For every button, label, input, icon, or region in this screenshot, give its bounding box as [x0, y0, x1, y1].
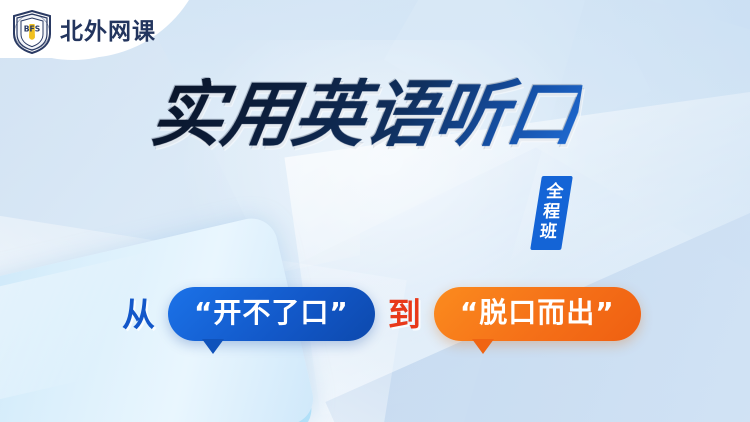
promo-banner: BFS 北外网课 实用英语听口 通关计划 全 程 班 从 “开不了口” 到 “脱…: [0, 0, 750, 422]
bfs-shield-crest-icon: BFS: [12, 10, 52, 54]
tagline-from-label: 从: [122, 298, 155, 331]
tagline-row: 从 “开不了口” 到 “脱口而出”: [122, 287, 641, 341]
tagline-to-bubble: “脱口而出”: [434, 287, 641, 341]
tagline-to-bubble-text: “脱口而出”: [460, 299, 615, 327]
tagline-from-bubble-text: “开不了口”: [194, 299, 349, 327]
svg-text:BFS: BFS: [24, 25, 40, 34]
tagline-from-bubble: “开不了口”: [168, 287, 375, 341]
brand-lockup[interactable]: BFS 北外网课: [12, 10, 156, 54]
background-layer: [0, 0, 750, 422]
tagline-to-label: 到: [388, 298, 421, 331]
brand-name: 北外网课: [60, 21, 156, 44]
